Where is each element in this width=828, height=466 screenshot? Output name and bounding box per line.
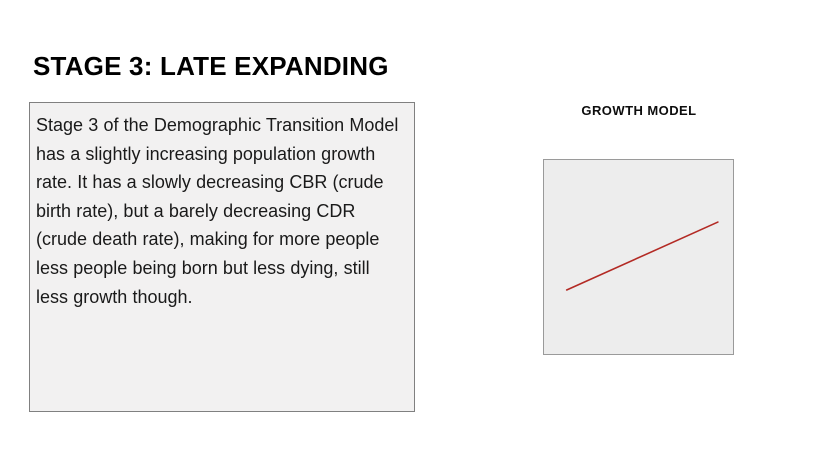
body-paragraph: Stage 3 of the Demographic Transition Mo… xyxy=(36,111,404,311)
slide-canvas: STAGE 3: LATE EXPANDING Stage 3 of the D… xyxy=(0,0,828,466)
growth-model-chart xyxy=(543,159,734,355)
growth-line-plot xyxy=(544,160,733,354)
page-title: STAGE 3: LATE EXPANDING xyxy=(33,50,733,82)
growth-trend-line xyxy=(567,222,718,290)
growth-model-heading: GROWTH MODEL xyxy=(529,103,749,118)
body-textbox: Stage 3 of the Demographic Transition Mo… xyxy=(29,102,415,412)
